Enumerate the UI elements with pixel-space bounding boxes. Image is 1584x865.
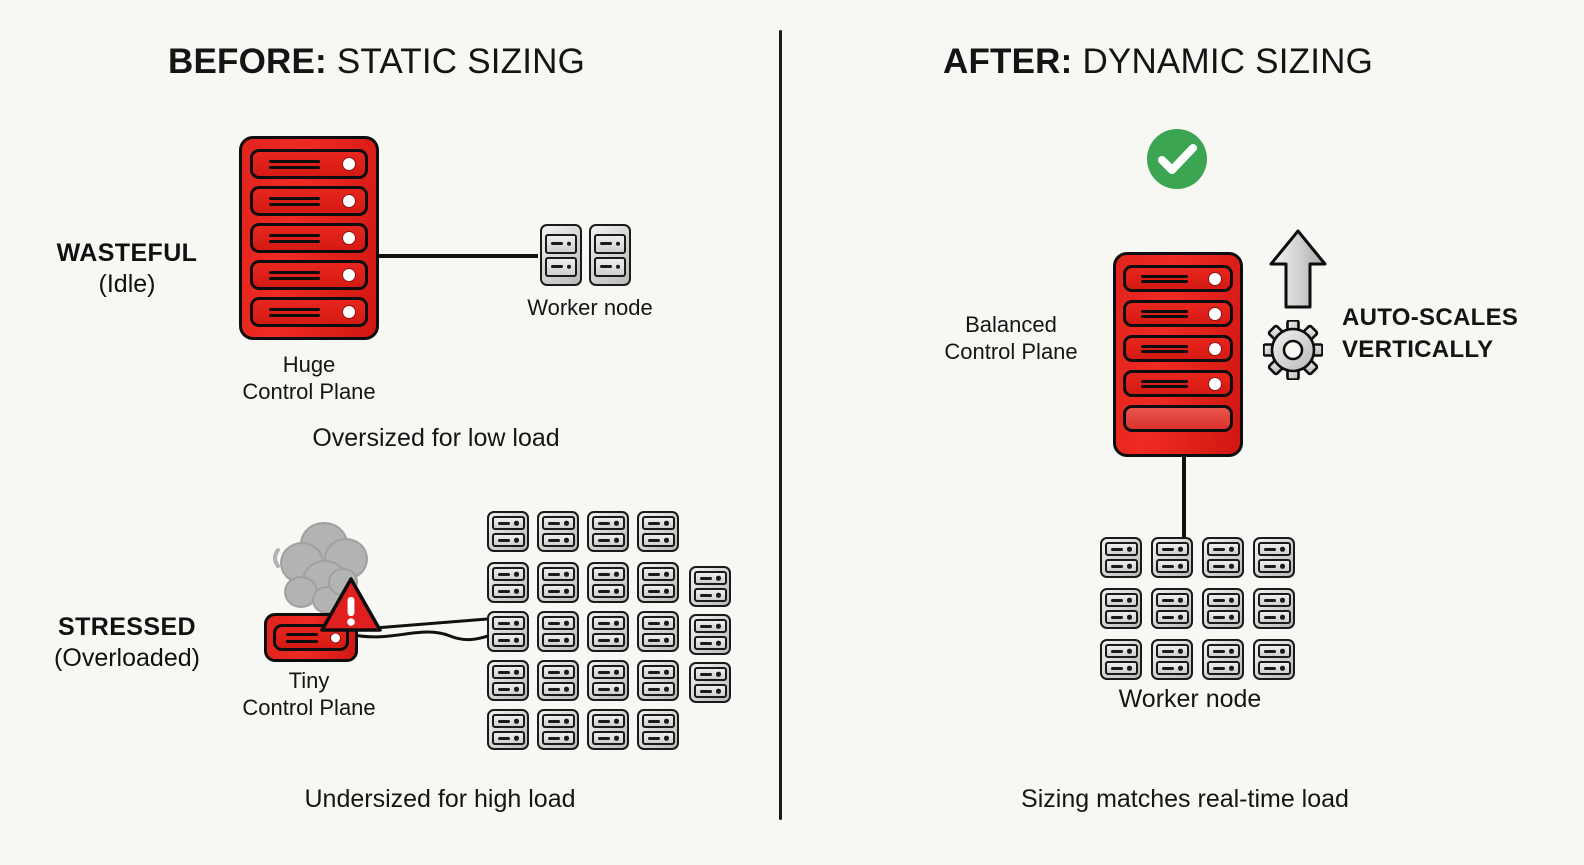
server-slot — [1123, 335, 1233, 362]
panel-divider — [779, 30, 782, 820]
worker-node — [589, 224, 631, 286]
worker-node — [1202, 537, 1244, 578]
worker-slot — [594, 234, 626, 254]
worker-node — [637, 562, 679, 603]
worker-node — [689, 614, 731, 655]
left-title-regular: STATIC SIZING — [327, 42, 585, 81]
worker-slot — [545, 234, 577, 254]
worker-node — [587, 562, 629, 603]
right-title-regular: DYNAMIC SIZING — [1073, 42, 1374, 81]
undersized-caption: Undersized for high load — [240, 785, 640, 814]
worker-node — [1100, 639, 1142, 680]
worker-node-label-left: Worker node — [490, 295, 690, 322]
connector-huge-to-worker — [378, 254, 538, 258]
gear-icon — [1263, 320, 1323, 380]
worker-node — [1151, 537, 1193, 578]
worker-node — [487, 611, 529, 652]
stressed-label: STRESSED (Overloaded) — [36, 612, 218, 673]
right-title-bold: AFTER: — [943, 42, 1073, 81]
headroom-slot — [1123, 405, 1233, 432]
worker-node — [1100, 537, 1142, 578]
balanced-label-line2: Control Plane — [944, 339, 1077, 364]
worker-node — [637, 660, 679, 701]
autoscale-line1: AUTO-SCALES — [1342, 302, 1562, 334]
worker-node — [537, 709, 579, 750]
huge-control-plane-label: Huge Control Plane — [209, 352, 409, 406]
left-title-bold: BEFORE: — [168, 42, 327, 81]
server-slot — [250, 223, 368, 253]
oversized-caption: Oversized for low load — [236, 424, 636, 453]
worker-node — [487, 511, 529, 552]
stressed-label-sub: (Overloaded) — [36, 643, 218, 674]
worker-node — [1253, 537, 1295, 578]
balanced-control-plane-label: Balanced Control Plane — [908, 312, 1114, 366]
balanced-control-plane — [1113, 252, 1243, 457]
wasteful-label-sub: (Idle) — [54, 269, 200, 300]
tiny-label-line1: Tiny — [289, 668, 330, 693]
worker-node — [537, 562, 579, 603]
worker-node — [637, 709, 679, 750]
huge-label-line2: Control Plane — [242, 379, 375, 404]
autoscale-annotation: AUTO-SCALES VERTICALLY — [1342, 302, 1562, 365]
worker-slot — [594, 257, 626, 277]
worker-node — [1100, 588, 1142, 629]
worker-node — [1202, 639, 1244, 680]
worker-node — [689, 662, 731, 703]
worker-node — [487, 709, 529, 750]
worker-node — [1253, 639, 1295, 680]
wasteful-label: WASTEFUL (Idle) — [54, 238, 200, 299]
green-check-circle-icon — [1146, 128, 1208, 190]
worker-node — [637, 511, 679, 552]
connector-balanced-to-grid — [1182, 457, 1186, 539]
server-slot — [250, 186, 368, 216]
worker-node — [587, 511, 629, 552]
autoscale-line2: VERTICALLY — [1342, 334, 1562, 366]
worker-node — [487, 660, 529, 701]
worker-node — [1151, 588, 1193, 629]
server-slot — [250, 149, 368, 179]
server-slot — [1123, 265, 1233, 292]
left-panel-title: BEFORE: STATIC SIZING — [168, 42, 585, 82]
worker-node-label-right: Worker node — [1090, 685, 1290, 714]
tiny-label-line2: Control Plane — [242, 695, 375, 720]
worker-node — [487, 562, 529, 603]
warning-triangle-icon — [320, 577, 382, 633]
tiny-control-plane-label: Tiny Control Plane — [209, 668, 409, 722]
worker-slot — [545, 257, 577, 277]
worker-node — [587, 611, 629, 652]
server-slot — [250, 260, 368, 290]
wasteful-label-title: WASTEFUL — [54, 238, 200, 269]
right-caption: Sizing matches real-time load — [985, 785, 1385, 814]
worker-node — [637, 611, 679, 652]
worker-node — [540, 224, 582, 286]
server-slot — [250, 297, 368, 327]
balanced-label-line1: Balanced — [965, 312, 1057, 337]
diagram-canvas: BEFORE: STATIC SIZING AFTER: DYNAMIC SIZ… — [0, 0, 1584, 865]
stressed-label-title: STRESSED — [36, 612, 218, 643]
worker-node — [1202, 588, 1244, 629]
worker-node — [1151, 639, 1193, 680]
worker-node — [1253, 588, 1295, 629]
worker-node — [537, 611, 579, 652]
server-slot — [1123, 370, 1233, 397]
huge-label-line1: Huge — [283, 352, 336, 377]
huge-control-plane — [239, 136, 379, 340]
worker-node — [689, 566, 731, 607]
worker-node — [587, 709, 629, 750]
right-panel-title: AFTER: DYNAMIC SIZING — [943, 42, 1373, 82]
arrow-up-icon — [1268, 228, 1328, 310]
worker-node — [587, 660, 629, 701]
worker-node — [537, 660, 579, 701]
server-slot — [1123, 300, 1233, 327]
worker-node — [537, 511, 579, 552]
